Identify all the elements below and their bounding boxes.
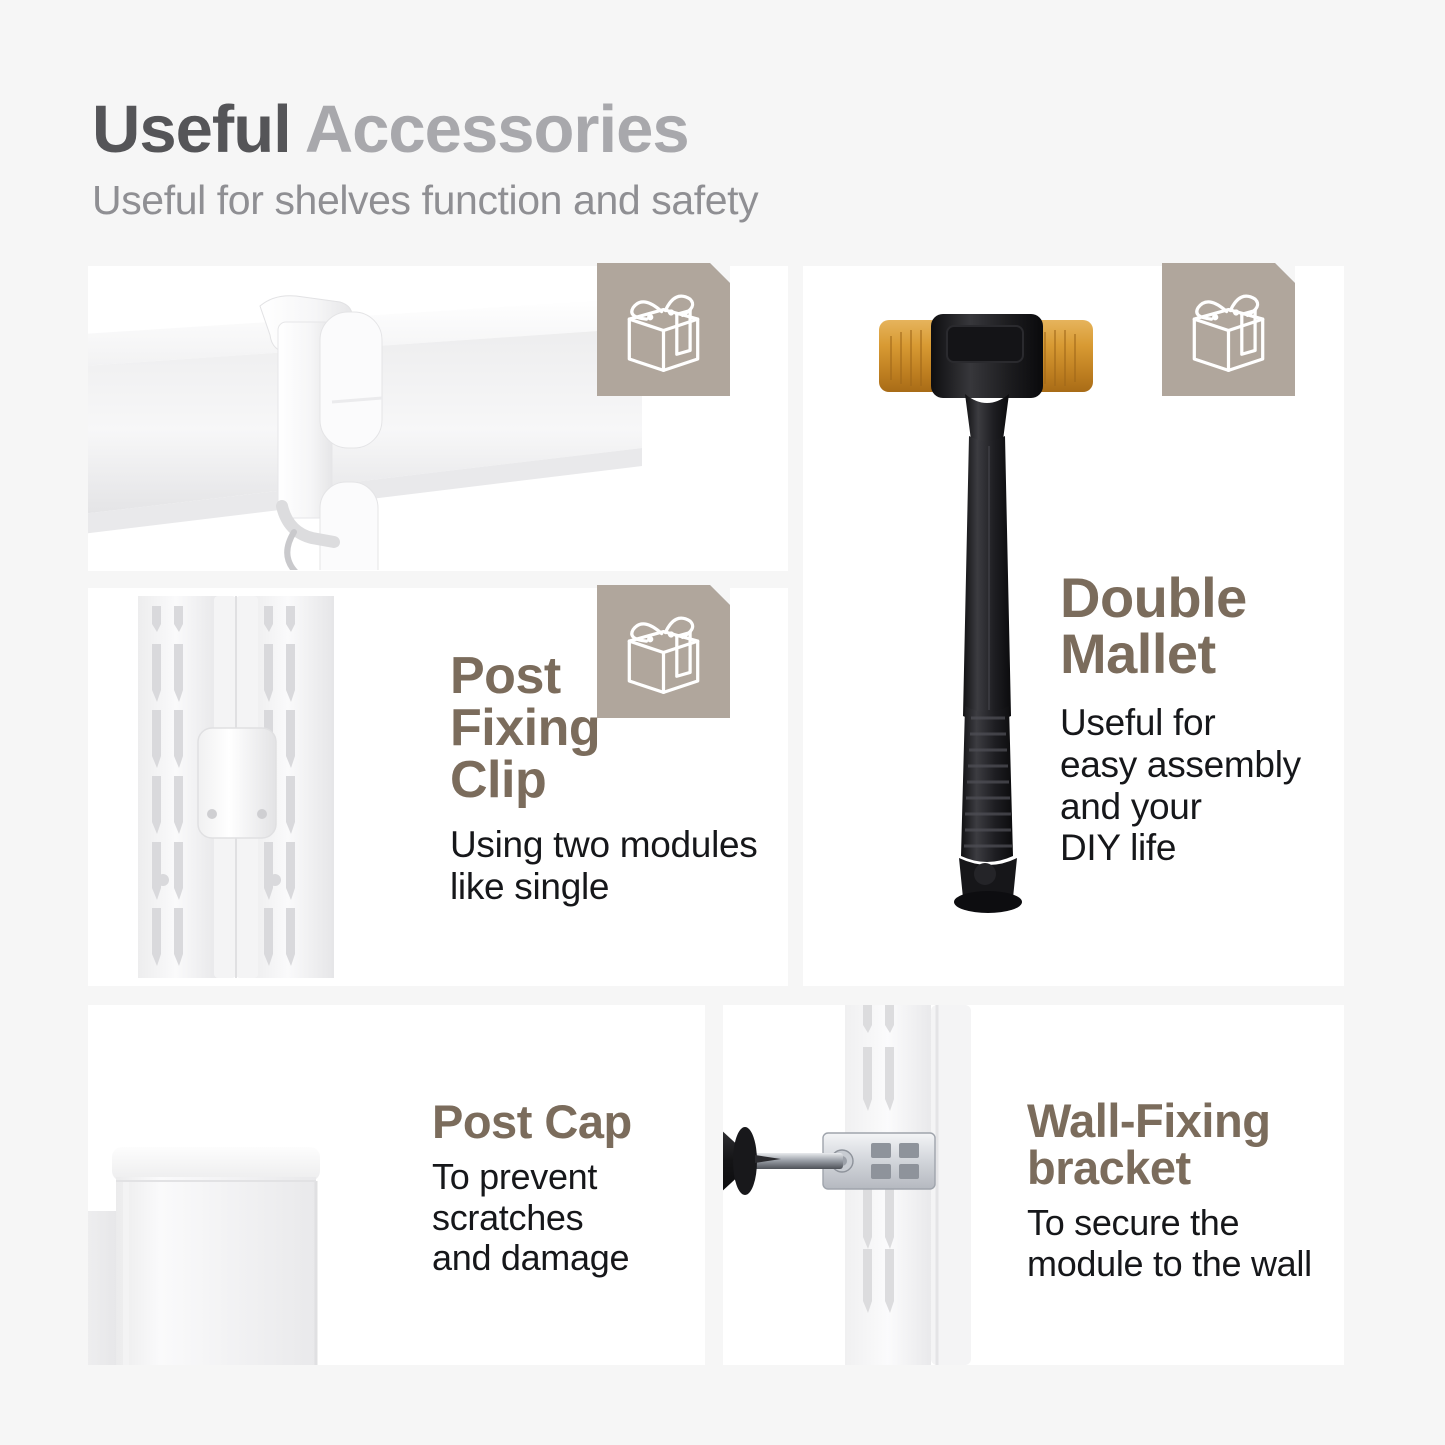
wall-fixing-bracket-body: To secure the module to the wall (1027, 1203, 1312, 1284)
gift-box-icon (1181, 283, 1276, 378)
gift-badge-post-fixing-clip (597, 585, 730, 718)
gift-box-icon (616, 605, 711, 700)
page-title: UsefulAccessories (92, 96, 1092, 163)
card-post-cap: Post Cap To prevent scratches and damage (88, 1005, 705, 1365)
double-mallet-heading: Double Mallet (1060, 570, 1301, 682)
wall-fixing-bracket-photo (723, 1005, 1039, 1365)
card-wall-fixing-bracket: Wall-Fixing bracket To secure the module… (723, 1005, 1344, 1365)
post-fixing-clip-body: Using two modules like single (450, 824, 758, 908)
page-subtitle: Useful for shelves function and safety (92, 177, 1092, 224)
wall-fixing-bracket-heading: Wall-Fixing bracket (1027, 1097, 1312, 1191)
heading-line: Wall-Fixing (1027, 1097, 1312, 1144)
body-line: module to the wall (1027, 1244, 1312, 1285)
post-cap-photo (88, 1091, 428, 1365)
heading-line: Post Cap (432, 1098, 632, 1145)
wall-fixing-bracket-text-block: Wall-Fixing bracket To secure the module… (1027, 1097, 1312, 1284)
body-line: like single (450, 866, 758, 908)
post-cap-heading: Post Cap (432, 1098, 632, 1145)
post-cap-text-block: Post Cap To prevent scratches and damage (432, 1098, 632, 1279)
body-line: and damage (432, 1238, 632, 1279)
double-mallet-text-block: Double Mallet Useful for easy assembly a… (1060, 570, 1301, 869)
body-line: To prevent (432, 1157, 632, 1198)
post-cap-body: To prevent scratches and damage (432, 1157, 632, 1279)
body-line: scratches (432, 1198, 632, 1239)
heading-line: Clip (450, 754, 758, 806)
double-mallet-body: Useful for easy assembly and your DIY li… (1060, 702, 1301, 869)
heading-line: Mallet (1060, 626, 1301, 682)
badge-fold (710, 263, 730, 283)
body-line: and your (1060, 786, 1301, 828)
body-line: To secure the (1027, 1203, 1312, 1244)
badge-fold (710, 585, 730, 605)
body-line: easy assembly (1060, 744, 1301, 786)
heading-line: Double (1060, 570, 1301, 626)
badge-fold (1275, 263, 1295, 283)
page-header: UsefulAccessories Useful for shelves fun… (92, 96, 1092, 224)
gift-box-icon (616, 283, 711, 378)
post-fixing-clip-photo (130, 588, 350, 986)
gift-badge-c-hook (597, 263, 730, 396)
title-strong: Useful (92, 92, 291, 167)
body-line: Using two modules (450, 824, 758, 866)
title-light: Accessories (305, 92, 689, 167)
infographic-page: UsefulAccessories Useful for shelves fun… (0, 0, 1445, 1445)
body-line: DIY life (1060, 827, 1301, 869)
heading-line: bracket (1027, 1144, 1312, 1191)
gift-badge-double-mallet (1162, 263, 1295, 396)
body-line: Useful for (1060, 702, 1301, 744)
